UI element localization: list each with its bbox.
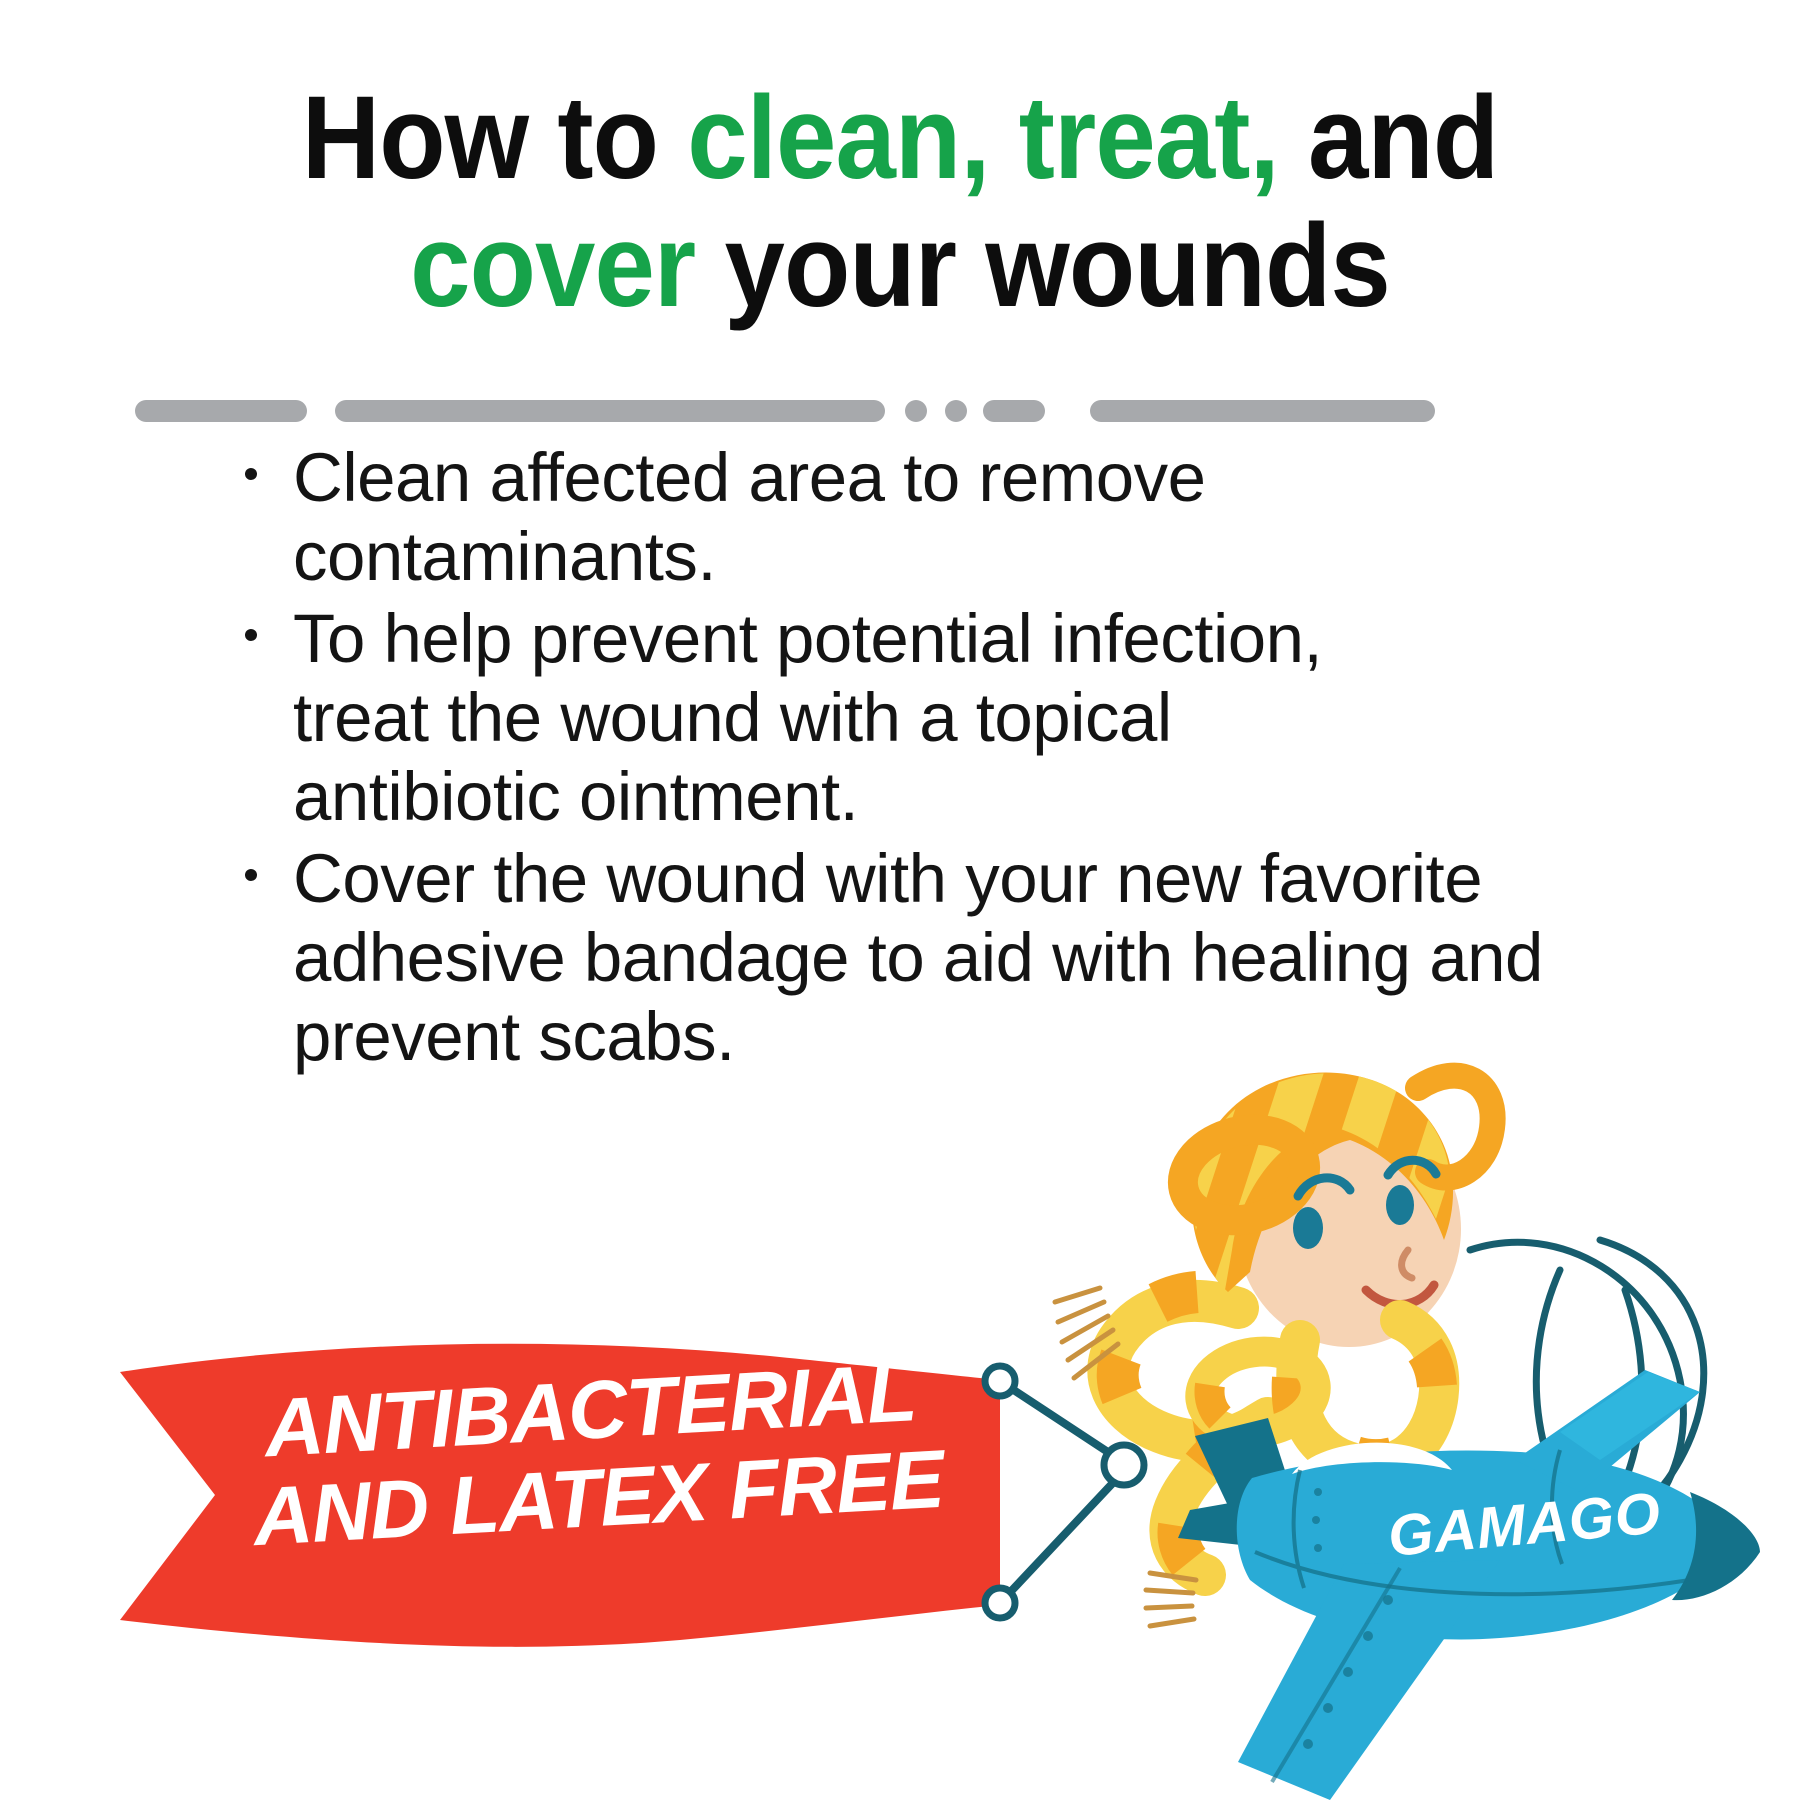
instruction-list: Clean affected area to remove contaminan… — [245, 438, 1675, 1079]
title-part-plain-1: How to — [302, 72, 688, 204]
eye-right — [1386, 1185, 1414, 1225]
dashed-divider — [135, 400, 1435, 422]
title-part-green-2: cover — [410, 200, 695, 332]
page-title-line-1: How to clean, treat, and — [72, 78, 1728, 198]
list-item: To help prevent potential infection, tre… — [245, 599, 1453, 836]
eye-left — [1293, 1207, 1323, 1249]
bullet-dot-icon — [245, 468, 257, 480]
infographic-page: How to clean, treat, and cover your woun… — [0, 0, 1800, 1800]
bullet-dot-icon — [245, 869, 257, 881]
page-title-line-2: cover your wounds — [72, 206, 1728, 326]
divider-segment — [135, 400, 307, 422]
scarf-fringe — [1146, 1573, 1196, 1626]
divider-dot — [945, 400, 967, 422]
divider-segment — [335, 400, 885, 422]
list-item: Clean affected area to remove contaminan… — [245, 438, 1423, 596]
divider-dot — [905, 400, 927, 422]
title-part-plain-2: and — [1279, 72, 1498, 204]
divider-segment — [983, 400, 1045, 422]
rope-anchor — [1104, 1445, 1144, 1485]
title-part-plain-3: your wounds — [695, 200, 1390, 332]
list-item-text: To help prevent potential infection, tre… — [293, 600, 1322, 835]
bullet-dot-icon — [245, 629, 257, 641]
page-title: How to clean, treat, and cover your woun… — [0, 78, 1800, 327]
mascot-artwork: ANTIBACTERIAL AND LATEX FREE — [0, 1040, 1800, 1800]
divider-segment — [1090, 400, 1435, 422]
list-item-text: Clean affected area to remove contaminan… — [293, 439, 1205, 595]
title-part-green-1: clean, treat, — [687, 72, 1278, 204]
